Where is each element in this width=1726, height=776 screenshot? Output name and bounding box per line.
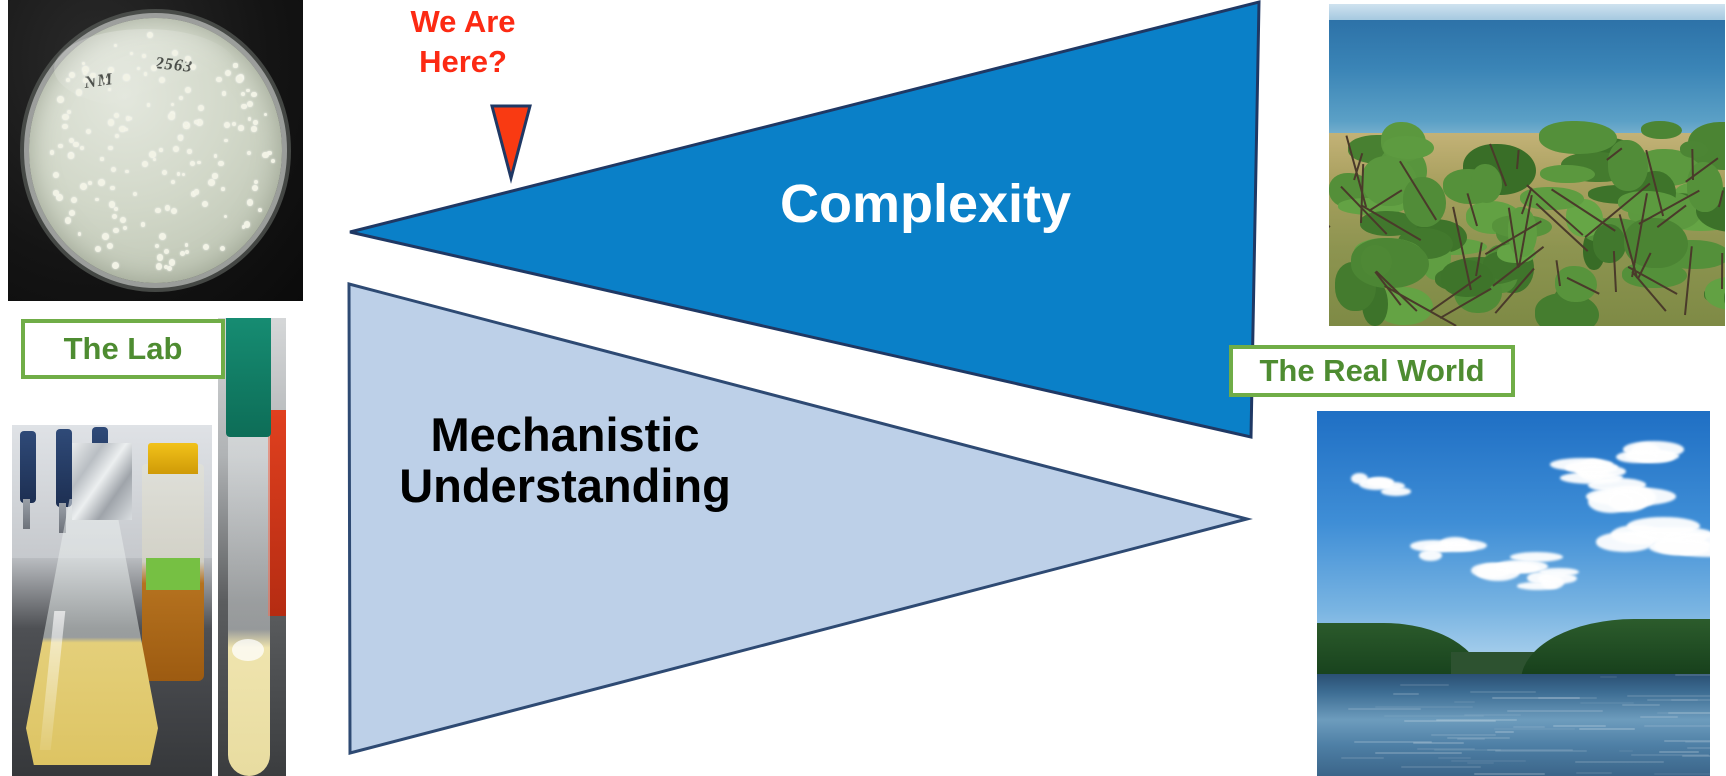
water-ripple: [1659, 751, 1700, 753]
bacterial-colony: [187, 149, 192, 154]
bacterial-colony: [171, 103, 174, 106]
water-ripple: [1576, 772, 1613, 774]
bacterial-colony: [50, 150, 55, 155]
bacterial-colony: [68, 153, 74, 159]
bacterial-colony: [164, 249, 169, 254]
bacterial-colony: [142, 161, 148, 167]
water-ripple: [1619, 750, 1633, 752]
bacterial-colony: [69, 210, 75, 216]
water-ripple: [1487, 749, 1573, 751]
bacterial-colony: [167, 266, 172, 271]
bacterial-colony: [114, 44, 117, 47]
bacterial-colony: [241, 104, 247, 110]
bacterial-colony: [218, 161, 223, 166]
bacterial-colony: [214, 154, 217, 157]
bacterial-colony: [142, 54, 147, 59]
coastal-scrub-photo: [1329, 4, 1725, 326]
test-tube-photo: [218, 318, 286, 776]
bacterial-colony: [172, 50, 178, 56]
bacterial-colony: [62, 124, 68, 130]
bacterial-colony: [177, 172, 180, 175]
bacterial-colony: [86, 129, 91, 134]
bacterial-colony: [194, 189, 199, 194]
bacterial-colony: [108, 88, 111, 91]
water-ripple: [1640, 716, 1678, 718]
mechanistic-understanding-label: Mechanistic Understanding: [365, 410, 765, 512]
bacterial-colony: [155, 208, 160, 213]
bare-branch: [1329, 197, 1331, 228]
bacterial-colony: [149, 151, 156, 158]
lake-landscape-photo: [1317, 411, 1710, 776]
bacterial-colony: [182, 173, 185, 176]
bacterial-colony: [108, 146, 113, 151]
flask-culture-photo: [12, 425, 212, 776]
cloud: [1596, 532, 1654, 551]
bacterial-colony: [78, 232, 81, 235]
bacterial-colony: [147, 103, 151, 107]
water-ripple: [1654, 773, 1710, 775]
bacterial-colony: [66, 78, 70, 82]
scrub-bush: [1593, 224, 1626, 263]
bacterial-colony: [247, 199, 253, 205]
bacterial-colony: [113, 228, 118, 233]
bacterial-colony: [171, 180, 175, 184]
pipette-icon: [20, 431, 36, 503]
bacterial-colony: [247, 101, 253, 107]
bacterial-colony: [258, 208, 262, 212]
bacterial-colony: [238, 125, 243, 130]
bacterial-colony: [185, 87, 191, 93]
bacterial-colony: [222, 91, 226, 95]
bacterial-colony: [103, 78, 108, 83]
the-lab-label: The Lab: [21, 319, 225, 379]
scrub-bush: [1539, 121, 1617, 154]
bacterial-colony: [185, 56, 190, 61]
bacterial-colony: [159, 233, 166, 240]
cloud: [1588, 478, 1646, 491]
bacterial-colony: [141, 222, 146, 227]
bacterial-colony: [178, 135, 184, 141]
water-ripple: [1627, 695, 1710, 697]
bacterial-colony: [147, 32, 153, 38]
bacterial-colony: [107, 243, 113, 249]
bacterial-colony: [123, 226, 127, 230]
bacterial-colony: [130, 52, 133, 55]
bacterial-colony: [241, 92, 245, 96]
bacterial-colony: [125, 170, 129, 174]
bacterial-colony: [224, 215, 227, 218]
bacterial-colony: [271, 159, 275, 163]
bacterial-colony: [251, 126, 256, 131]
bacterial-colony: [208, 179, 215, 186]
bacterial-colony: [100, 157, 103, 160]
bacterial-colony: [233, 63, 237, 67]
water-ripple: [1474, 773, 1545, 775]
water-ripple: [1451, 760, 1527, 762]
bacterial-colony: [98, 179, 105, 186]
water-ripple: [1647, 699, 1710, 701]
bacterial-colony: [197, 161, 200, 164]
bacterial-colony: [244, 221, 250, 227]
bacterial-colony: [169, 259, 176, 266]
bacterial-colony: [83, 78, 87, 82]
bacterial-colony: [221, 187, 225, 191]
bacterial-colony: [171, 208, 177, 214]
lake-water: [1317, 674, 1710, 776]
bacterial-colony: [155, 244, 159, 248]
tube-rack: [268, 410, 286, 616]
bacterial-colony: [108, 67, 114, 73]
bacterial-colony: [164, 265, 168, 269]
water-ripple: [1668, 712, 1710, 714]
slide-canvas: NM 2563: [0, 0, 1726, 776]
cloud: [1424, 543, 1476, 552]
bacterial-colony: [144, 72, 148, 76]
bacterial-colony: [125, 128, 128, 131]
water-ripple: [1457, 738, 1485, 740]
bacterial-colony: [253, 120, 258, 125]
bacterial-colony: [203, 244, 209, 250]
bacterial-colony: [133, 192, 137, 196]
bacterial-colony: [185, 243, 189, 247]
water-ripple: [1393, 693, 1419, 695]
bacterial-colony: [190, 64, 196, 70]
water-ripple: [1492, 697, 1580, 699]
water-ripple: [1348, 708, 1420, 710]
bacterial-colony: [248, 117, 252, 121]
bacterial-colony: [251, 92, 257, 98]
bacterial-colony: [82, 62, 85, 65]
cloud: [1538, 573, 1578, 584]
bacterial-colony: [71, 197, 77, 203]
bacterial-colony: [95, 198, 98, 201]
bacterial-colony: [185, 250, 189, 254]
bacterial-colony: [115, 134, 119, 138]
bacterial-colony: [252, 185, 258, 191]
reagent-bottle-cap: [148, 443, 198, 475]
bacterial-colony: [114, 113, 119, 118]
water-ripple: [1404, 720, 1495, 722]
cloud: [1649, 539, 1710, 554]
bacterial-colony: [88, 181, 92, 185]
bare-branch: [1721, 253, 1723, 289]
bacterial-colony: [108, 119, 115, 126]
bacterial-colony: [236, 76, 243, 83]
dune-grass: [1329, 133, 1725, 326]
bacterial-colony: [190, 161, 196, 167]
bacterial-colony: [254, 180, 258, 184]
bacterial-colony: [165, 205, 170, 210]
bacterial-colony: [69, 72, 75, 78]
complexity-label: Complexity: [780, 175, 1071, 233]
bacterial-colony: [80, 146, 84, 150]
bacterial-colony: [83, 71, 87, 75]
water-ripple: [1579, 728, 1635, 730]
bacterial-colony: [114, 207, 118, 211]
bacterial-colony: [184, 122, 188, 126]
water-ripple: [1687, 747, 1710, 749]
cloud: [1510, 552, 1564, 562]
water-ripple: [1354, 741, 1431, 743]
water-ripple: [1438, 757, 1471, 759]
bacterial-colony: [264, 113, 267, 116]
flask-foil-cap: [72, 443, 132, 520]
bacterial-colony: [80, 183, 87, 190]
bacterial-colony: [112, 262, 119, 269]
bacterial-colony: [110, 186, 115, 191]
cloud: [1588, 491, 1634, 513]
water-ripple: [1400, 684, 1448, 686]
water-ripple: [1467, 762, 1495, 764]
petri-dish-agar: NM 2563: [29, 18, 283, 283]
bacterial-colony: [62, 114, 69, 121]
water-ripple: [1513, 726, 1545, 728]
bacterial-colony: [69, 138, 74, 143]
pipette-icon: [56, 429, 72, 507]
scrub-bush: [1641, 121, 1682, 139]
scrub-bush: [1383, 136, 1434, 159]
bacterial-colony: [198, 105, 204, 111]
bacterial-colony: [159, 77, 165, 83]
bacterial-colony: [123, 74, 130, 81]
bacterial-colony: [224, 122, 230, 128]
bacterial-colony: [173, 146, 179, 152]
bacterial-colony: [162, 170, 167, 175]
petri-dish-colonies: NM 2563: [29, 18, 283, 283]
bacterial-colony: [112, 214, 117, 219]
bacterial-colony: [168, 113, 175, 120]
cloud: [1381, 487, 1411, 496]
water-ripple: [1375, 752, 1462, 754]
bacterial-colony: [159, 148, 163, 152]
bacterial-colony: [151, 65, 157, 71]
water-ripple: [1401, 766, 1481, 768]
cloud: [1565, 461, 1619, 474]
bacterial-colony: [224, 139, 227, 142]
bacterial-colony: [216, 77, 222, 83]
bacterial-colony: [65, 217, 71, 223]
bacterial-colony: [120, 217, 126, 223]
bacterial-colony: [220, 246, 225, 251]
water-ripple: [1454, 701, 1475, 703]
bacterial-colony: [53, 172, 59, 178]
the-real-world-label: The Real World: [1229, 345, 1515, 397]
bacterial-colony: [247, 151, 251, 155]
bacterial-colony: [53, 190, 58, 195]
water-ripple: [1675, 674, 1710, 676]
bacterial-colony: [58, 144, 63, 149]
water-ripple: [1600, 676, 1617, 678]
bacterial-colony: [67, 110, 71, 114]
scrub-bush: [1680, 141, 1708, 157]
water-ripple: [1507, 710, 1604, 712]
reagent-bottle-label: [146, 558, 200, 590]
bacterial-colony: [153, 158, 156, 161]
bacterial-colony: [232, 122, 236, 126]
bacterial-colony: [137, 67, 140, 70]
scrub-bush: [1608, 140, 1648, 192]
water-ripple: [1447, 737, 1510, 739]
water-ripple: [1341, 757, 1384, 759]
water-ripple: [1464, 714, 1521, 716]
bacterial-colony: [111, 167, 117, 173]
water-ripple: [1685, 741, 1710, 743]
bacterial-colony: [102, 233, 109, 240]
cloud: [1351, 473, 1368, 484]
we-are-here-annotation: We Are Here?: [388, 2, 538, 81]
cloud: [1494, 563, 1540, 573]
scrub-bush: [1540, 165, 1595, 183]
bacterial-colony: [262, 152, 268, 158]
bacterial-colony: [129, 117, 132, 120]
bacterial-colony: [76, 89, 83, 96]
water-ripple: [1495, 731, 1514, 733]
bacterial-colony: [57, 96, 64, 103]
bacterial-colony: [212, 173, 217, 178]
bacterial-colony: [246, 89, 250, 93]
scrub-bush: [1471, 164, 1502, 203]
mechanistic-understanding-wedge: [349, 284, 1247, 753]
water-ripple: [1470, 691, 1536, 693]
bacterial-colony: [157, 254, 164, 261]
bacterial-colony: [179, 96, 183, 100]
water-ripple: [1622, 704, 1661, 706]
scrub-bush: [1555, 266, 1597, 302]
water-ripple: [1682, 755, 1710, 757]
bacterial-colony: [202, 201, 208, 207]
water-ripple: [1553, 725, 1606, 727]
test-tube-cap: [226, 318, 271, 437]
bacterial-colony: [156, 263, 162, 269]
bacterial-colony: [225, 70, 231, 76]
water-ripple: [1575, 761, 1664, 763]
water-ripple: [1644, 725, 1710, 727]
we-are-here-marker-icon: [492, 106, 530, 178]
bacterial-colony: [95, 246, 101, 252]
petri-dish-photo: NM 2563: [8, 0, 303, 301]
bacterial-colony: [73, 142, 79, 148]
